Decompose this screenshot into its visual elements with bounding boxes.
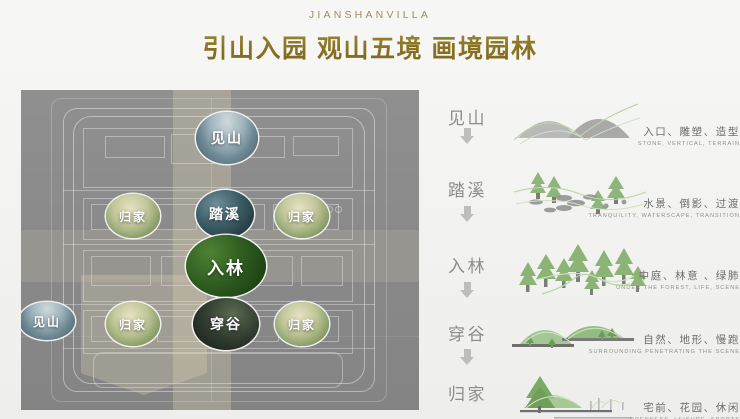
stage-arrow-icon <box>462 128 473 145</box>
site-plan-node[interactable]: 穿谷 <box>193 298 259 350</box>
site-plan-node-label: 归家 <box>119 316 147 333</box>
site-plan-node[interactable]: 归家 <box>106 194 160 238</box>
stage-label: 归家 <box>448 380 487 405</box>
brand-wordmark: JIANSHANVILLA <box>0 9 740 21</box>
site-plan-node-label: 踏溪 <box>209 204 241 224</box>
stage-label: 踏溪 <box>448 176 487 201</box>
site-plan-node[interactable]: 见山 <box>21 302 75 340</box>
stage-description: 宅前、花园、休闲 OPENNESS, LEISURE, SPORTS <box>630 400 740 419</box>
site-plan-node[interactable]: 踏溪 <box>196 190 254 238</box>
site-plan-node[interactable]: 入林 <box>186 235 266 297</box>
stage-description: 入口、雕塑、造型 STONE, VERTICAL, TERRAIN <box>638 124 740 147</box>
site-plan-node-label: 穿谷 <box>210 314 242 334</box>
site-plan-node-label: 见山 <box>211 128 243 148</box>
stage-description: 自然、地形、慢跑 SURROUNDING PENETRATING THE SCE… <box>589 332 740 355</box>
stage-desc-cn: 中庭、林意 、绿肺 <box>616 268 740 283</box>
home-garden-icon <box>506 368 648 419</box>
site-plan-node[interactable]: 归家 <box>275 302 329 346</box>
mountain-range-icon <box>510 96 645 146</box>
site-plan-node[interactable]: 归家 <box>106 302 160 346</box>
stage-label: 入林 <box>448 252 487 277</box>
journey-stage: 穿谷 自然、地形、慢跑 SURROUNDING PENETRATING THE … <box>438 306 740 368</box>
site-plan-node-label: 归家 <box>288 208 316 225</box>
journey-stage: 入林 <box>438 238 740 304</box>
stage-desc-cn: 入口、雕塑、造型 <box>638 124 740 139</box>
site-plan[interactable]: 见山踏溪入林穿谷归家归家归家归家见山 <box>21 90 419 410</box>
stage-desc-cn: 水景、倒影、过渡 <box>588 196 740 211</box>
stage-desc-en: SURROUNDING PENETRATING THE SCENE <box>589 349 740 355</box>
stage-desc-en: UNDER THE FOREST, LIFE, SCENE <box>616 285 740 291</box>
stage-description: 中庭、林意 、绿肺 UNDER THE FOREST, LIFE, SCENE <box>616 268 740 291</box>
page-title: 引山入园 观山五境 画境园林 <box>0 29 740 65</box>
site-plan-node-label: 归家 <box>119 208 147 225</box>
stage-desc-en: STONE, VERTICAL, TERRAIN <box>638 141 740 147</box>
stage-arrow-icon <box>462 282 473 299</box>
journey-stage: 归家 宅前、花园、休闲 OPENNESS <box>438 368 740 419</box>
journey-stage: 踏溪 <box>438 162 740 224</box>
site-plan-node-label: 归家 <box>288 316 316 333</box>
journey-stage: 见山 入口、雕塑、造型 STONE, VERTICAL, TERRAIN <box>438 96 740 156</box>
stage-desc-cn: 自然、地形、慢跑 <box>589 332 740 347</box>
stage-label: 见山 <box>448 104 487 129</box>
stage-arrow-icon <box>462 349 473 366</box>
site-plan-node-label: 见山 <box>33 313 61 330</box>
site-plan-node-label: 入林 <box>207 254 245 279</box>
site-plan-node[interactable]: 见山 <box>196 112 258 164</box>
journey-panel: 见山 入口、雕塑、造型 STONE, VERTICAL, TERRAIN 踏溪 <box>438 96 740 414</box>
site-plan-node[interactable]: 归家 <box>275 194 329 238</box>
stage-arrow-icon <box>462 206 473 223</box>
stage-description: 水景、倒影、过渡 TRANQUILITY, WATERSCAPE, TRANSI… <box>588 196 740 219</box>
slide-root: JIANSHANVILLA 引山入园 观山五境 画境园林 <box>0 0 740 419</box>
stage-desc-cn: 宅前、花园、休闲 <box>630 400 740 415</box>
stage-desc-en: TRANQUILITY, WATERSCAPE, TRANSITION <box>588 213 740 219</box>
stage-label: 穿谷 <box>448 320 487 345</box>
